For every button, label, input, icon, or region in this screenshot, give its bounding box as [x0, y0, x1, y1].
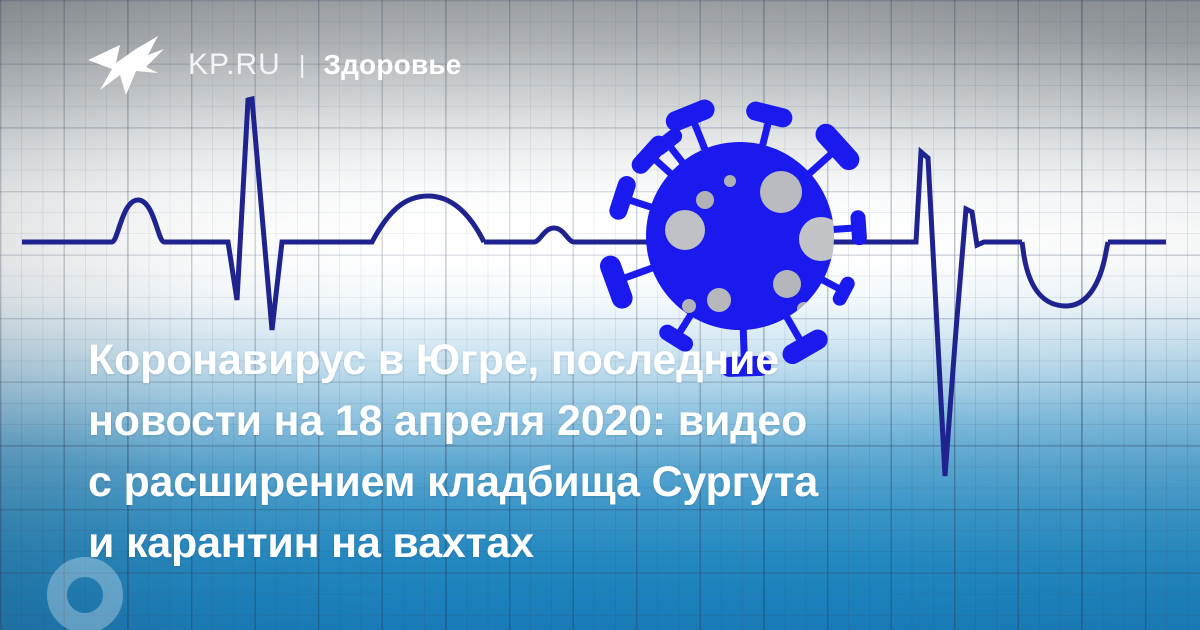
- kp-swallow-bird-logo[interactable]: [86, 33, 168, 97]
- headline-line: с расширением кладбища Сургута: [88, 452, 978, 513]
- headline-line: Коронавирус в Югре, последние: [88, 330, 978, 391]
- headline-line: и карантин на вахтах: [88, 513, 978, 574]
- decorative-ring: [47, 557, 123, 630]
- page-title: Коронавирус в Югре, последние новости на…: [88, 330, 978, 574]
- section-label[interactable]: Здоровье: [323, 49, 461, 81]
- header: KP.RU | Здоровье: [86, 33, 462, 97]
- social-card: KP.RU | Здоровье Коронавирус в Югре, пос…: [0, 0, 1200, 630]
- brand-lockup: KP.RU | Здоровье: [188, 48, 462, 82]
- headline-line: новости на 18 апреля 2020: видео: [88, 391, 978, 452]
- brand-name[interactable]: KP.RU: [188, 48, 281, 82]
- brand-separator: |: [299, 51, 306, 80]
